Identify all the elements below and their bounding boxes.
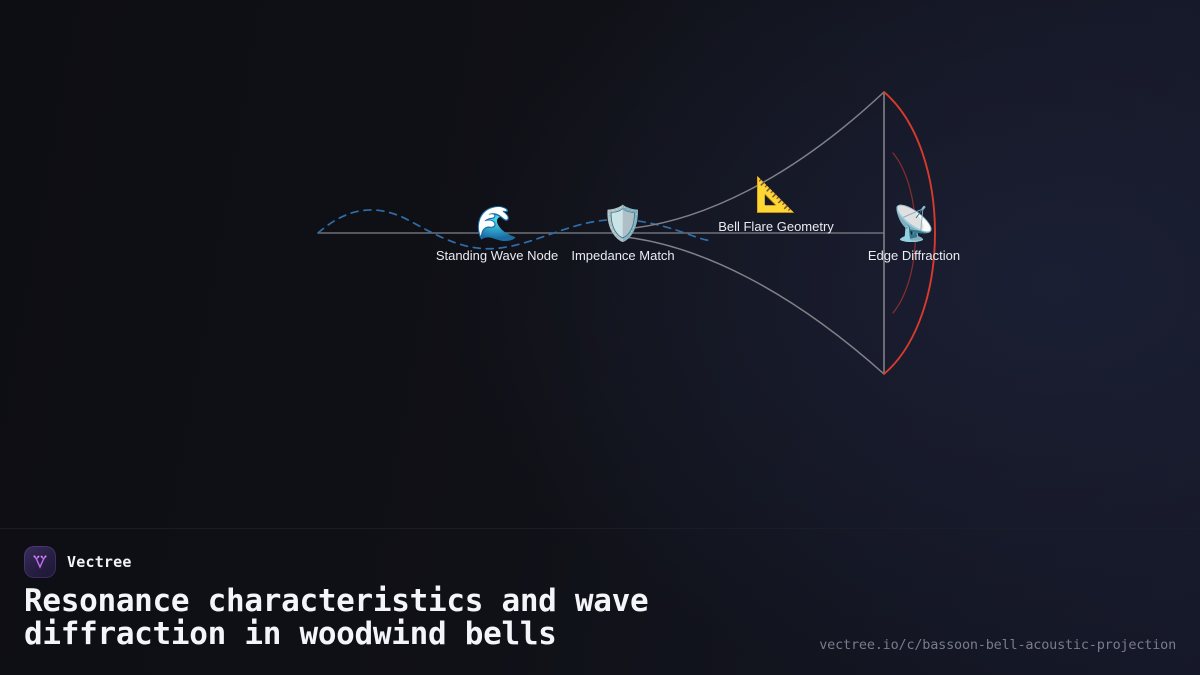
page-title: Resonance characteristics and wave diffr… — [24, 585, 784, 651]
node-label-edge-diffraction: Edge Diffraction — [834, 248, 994, 264]
node-label-bell-flare-geometry: Bell Flare Geometry — [696, 219, 856, 235]
site-url: vectree.io/c/bassoon-bell-acoustic-proje… — [819, 637, 1176, 653]
shield-icon: 🛡️ — [543, 203, 703, 245]
brand-name: Vectree — [67, 553, 132, 571]
triangular-ruler-icon: 📐 — [696, 174, 856, 216]
vectree-branching-v-logo-icon — [24, 546, 56, 578]
node-label-impedance-match: Impedance Match — [543, 248, 703, 264]
node-bell-flare-geometry[interactable]: 📐 Bell Flare Geometry — [696, 174, 856, 235]
brand-row[interactable]: Vectree — [24, 546, 132, 578]
satellite-antenna-icon: 📡 — [834, 203, 994, 245]
footer-bar: Vectree Resonance characteristics and wa… — [0, 528, 1200, 675]
screenshot-root: 🌊 Standing Wave Node 🛡️ Impedance Match … — [0, 0, 1200, 675]
node-impedance-match[interactable]: 🛡️ Impedance Match — [543, 203, 703, 264]
node-edge-diffraction[interactable]: 📡 Edge Diffraction — [834, 203, 994, 264]
